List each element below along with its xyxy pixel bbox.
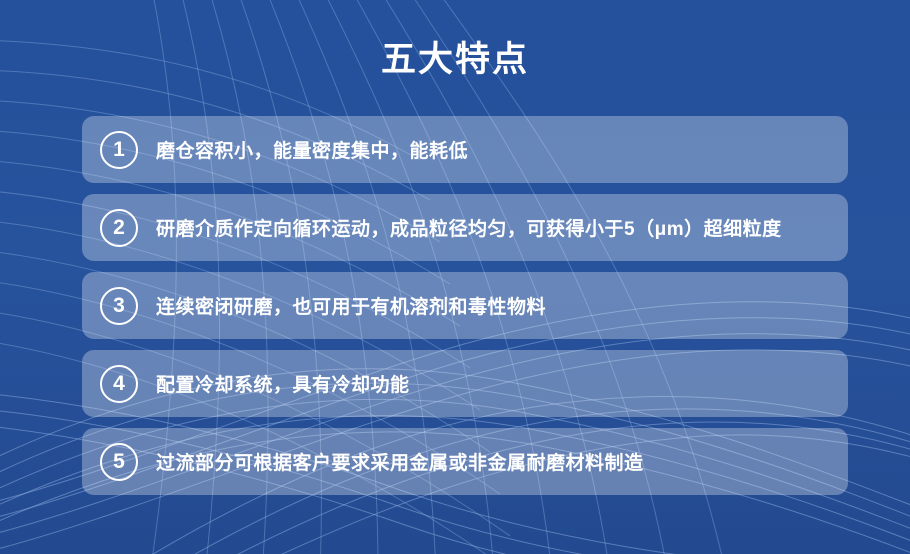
feature-card-5[interactable]: 5 过流部分可根据客户要求采用金属或非金属耐磨材料制造 — [82, 428, 848, 495]
feature-card-2[interactable]: 2 研磨介质作定向循环运动，成品粒径均匀，可获得小于5（μm）超细粒度 — [82, 194, 848, 261]
feature-card-1[interactable]: 1 磨仓容积小，能量密度集中，能耗低 — [82, 116, 848, 183]
feature-number-badge-2: 2 — [100, 209, 138, 247]
feature-number-badge-5: 5 — [100, 443, 138, 481]
feature-text-5: 过流部分可根据客户要求采用金属或非金属耐磨材料制造 — [156, 448, 644, 475]
feature-card-3[interactable]: 3 连续密闭研磨，也可用于有机溶剂和毒性物料 — [82, 272, 848, 339]
feature-text-1: 磨仓容积小，能量密度集中，能耗低 — [156, 136, 468, 163]
feature-number-badge-4: 4 — [100, 365, 138, 403]
feature-card-4[interactable]: 4 配置冷却系统，具有冷却功能 — [82, 350, 848, 417]
feature-text-4: 配置冷却系统，具有冷却功能 — [156, 370, 410, 397]
page-title: 五大特点 — [0, 38, 910, 82]
feature-number-badge-1: 1 — [100, 131, 138, 169]
feature-number-badge-3: 3 — [100, 287, 138, 325]
feature-text-2: 研磨介质作定向循环运动，成品粒径均匀，可获得小于5（μm）超细粒度 — [156, 214, 782, 241]
feature-text-3: 连续密闭研磨，也可用于有机溶剂和毒性物料 — [156, 292, 546, 319]
feature-poster: 五大特点 1 磨仓容积小，能量密度集中，能耗低 2 研磨介质作定向循环运动，成品… — [0, 0, 910, 554]
feature-list: 1 磨仓容积小，能量密度集中，能耗低 2 研磨介质作定向循环运动，成品粒径均匀，… — [82, 116, 848, 506]
